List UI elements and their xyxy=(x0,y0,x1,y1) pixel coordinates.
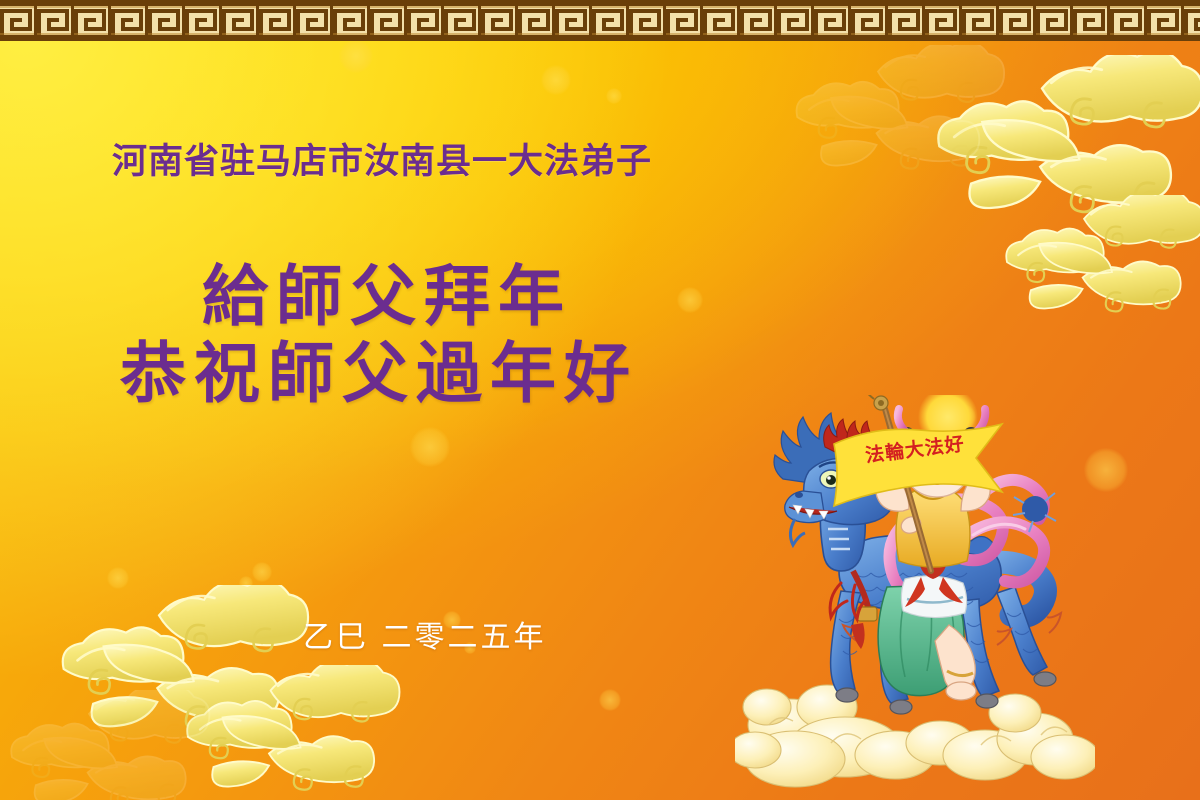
child-foot xyxy=(946,682,976,700)
dragon-nostril xyxy=(795,492,803,498)
bokeh-8 xyxy=(541,65,571,95)
greeting-block: 給師父拜年 恭祝師父過年好 xyxy=(120,258,638,412)
banner-flag xyxy=(830,418,1010,518)
illustration-clouds xyxy=(735,685,1095,787)
date-line: 乙巳 二零二五年 xyxy=(303,612,547,656)
dragon-beard xyxy=(790,519,805,545)
bokeh-5 xyxy=(252,562,272,582)
bokeh-11 xyxy=(677,287,703,313)
greeting-line-2: 恭祝師父過年好 xyxy=(120,334,638,412)
cloud-top-right-ghost xyxy=(790,45,1010,195)
dragon-snout xyxy=(785,491,825,523)
cloud-top-right-large xyxy=(930,55,1200,245)
greek-key-border xyxy=(0,0,1200,41)
cloud-right-mid xyxy=(1000,195,1200,335)
bokeh-9 xyxy=(606,88,622,104)
cloud-bottom-left-ghost xyxy=(0,690,220,800)
sender-line: 河南省驻马店市汝南县一大法弟子 xyxy=(112,133,652,184)
greek-key-pattern xyxy=(0,3,1200,38)
pole-finial xyxy=(862,395,888,410)
bokeh-4 xyxy=(239,576,253,590)
bokeh-3 xyxy=(107,567,129,589)
bokeh-14 xyxy=(599,689,621,711)
greeting-card: 河南省驻马店市汝南县一大法弟子 給師父拜年 恭祝師父過年好 乙巳 二零二五年 xyxy=(0,0,1200,800)
cloud-bottom-left xyxy=(55,585,315,760)
greeting-line-1: 給師父拜年 xyxy=(202,258,638,334)
cloud-bottom-left-2 xyxy=(178,665,408,800)
bokeh-10 xyxy=(339,39,373,73)
bokeh-1 xyxy=(410,427,450,467)
